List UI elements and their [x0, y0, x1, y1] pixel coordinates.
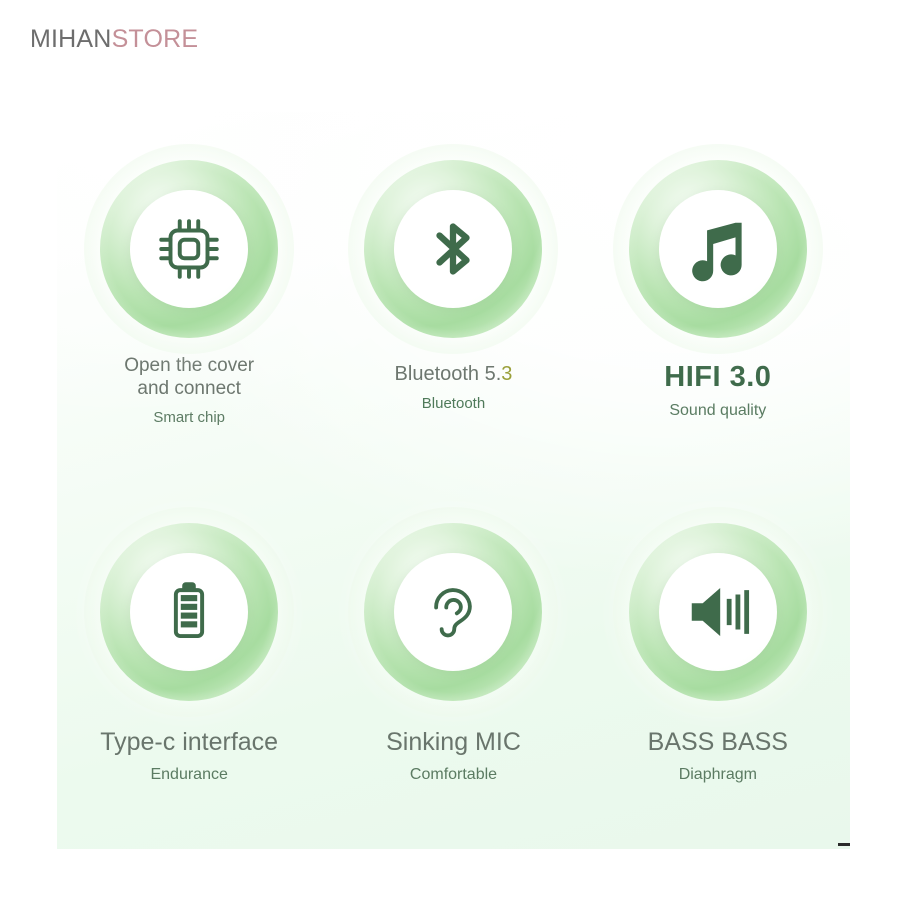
- brand-logo: MIHANSTORE: [30, 25, 198, 54]
- feature-caption: Open the cover and connect Smart chip: [124, 354, 254, 428]
- feature-title: BASS BASS: [648, 727, 788, 758]
- feature-subtitle: Diaphragm: [648, 765, 788, 785]
- feature-title: Type-c interface: [100, 727, 278, 758]
- feature-tile-hifi: HIFI 3.0 Sound quality: [586, 112, 850, 421]
- feature-badge: [100, 160, 278, 338]
- feature-subtitle: Smart chip: [124, 409, 254, 427]
- feature-caption: Sinking MIC Comfortable: [386, 727, 521, 785]
- feature-tile-type-c: Type-c interface Endurance: [57, 481, 321, 785]
- feature-grid: Open the cover and connect Smart chip Bl…: [57, 112, 850, 849]
- feature-tile-smart-chip: Open the cover and connect Smart chip: [57, 112, 321, 428]
- feature-badge-inner: [130, 190, 248, 308]
- feature-subtitle: Sound quality: [664, 401, 771, 421]
- speaker-volume-icon: [683, 577, 753, 647]
- feature-subtitle: Comfortable: [386, 765, 521, 785]
- feature-badge: [364, 160, 542, 338]
- feature-tile-bass: BASS BASS Diaphragm: [586, 481, 850, 785]
- feature-caption: Type-c interface Endurance: [100, 727, 278, 785]
- feature-badge-inner: [394, 553, 512, 671]
- feature-caption: BASS BASS Diaphragm: [648, 727, 788, 785]
- bluetooth-icon: [417, 213, 489, 285]
- feature-caption: Bluetooth 5.3 Bluetooth: [395, 362, 513, 414]
- ear-icon: [417, 576, 489, 648]
- feature-subtitle: Endurance: [100, 765, 278, 785]
- feature-badge-inner: [130, 553, 248, 671]
- feature-title-highlight: 3: [501, 363, 512, 385]
- stray-dash-mark: [838, 843, 850, 846]
- feature-badge-inner: [394, 190, 512, 308]
- brand-logo-secondary: STORE: [112, 25, 199, 53]
- feature-title: Open the cover and connect: [124, 354, 254, 400]
- feature-badge-inner: [659, 553, 777, 671]
- feature-title: Bluetooth 5.3: [395, 362, 513, 386]
- feature-title: Sinking MIC: [386, 727, 521, 758]
- feature-badge: [629, 160, 807, 338]
- feature-badge-inner: [659, 190, 777, 308]
- feature-title-prefix: Bluetooth 5.: [395, 363, 502, 385]
- feature-tile-bluetooth: Bluetooth 5.3 Bluetooth: [321, 112, 585, 414]
- cpu-chip-icon: [152, 212, 226, 286]
- feature-tile-sinking-mic: Sinking MIC Comfortable: [321, 481, 585, 785]
- music-note-icon: [683, 214, 753, 284]
- battery-full-icon: [154, 577, 224, 647]
- feature-badge: [629, 523, 807, 701]
- feature-badge: [364, 523, 542, 701]
- brand-logo-primary: MIHAN: [30, 25, 112, 53]
- feature-subtitle: Bluetooth: [395, 395, 513, 413]
- feature-caption: HIFI 3.0 Sound quality: [664, 360, 771, 421]
- feature-badge: [100, 523, 278, 701]
- feature-title: HIFI 3.0: [664, 360, 771, 395]
